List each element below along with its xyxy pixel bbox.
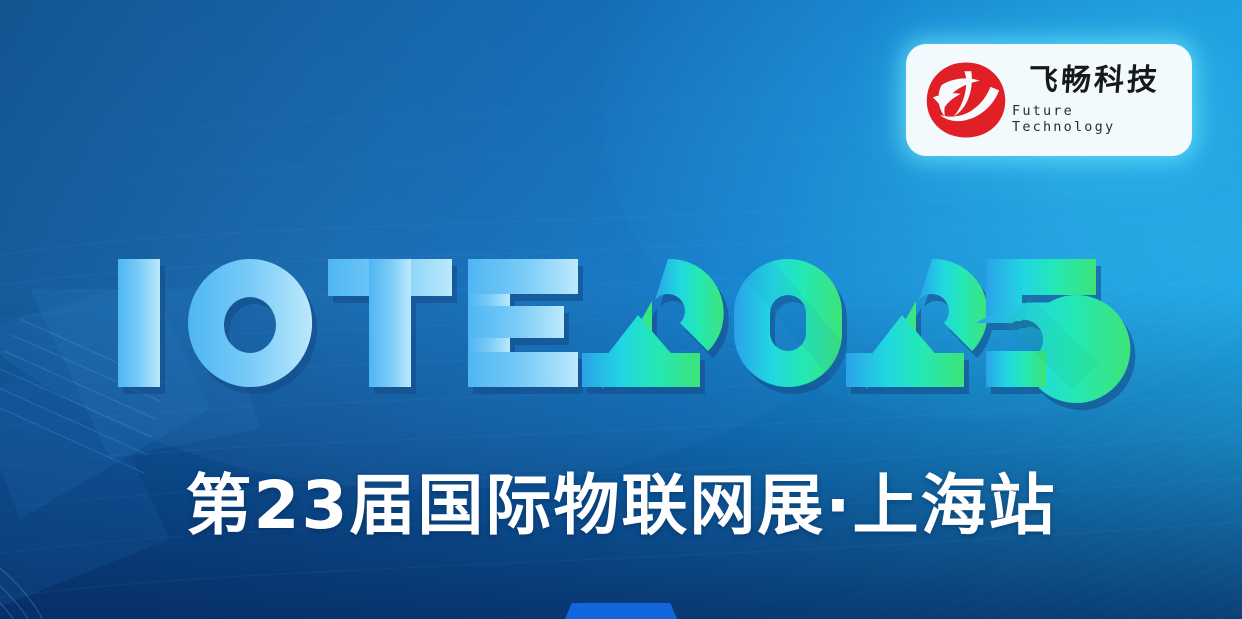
company-name-cn: 飞畅科技: [1027, 65, 1161, 97]
iote-2025-banner: 第23届国际物联网展·上海站 飞畅科技 Future Technology: [0, 0, 1242, 619]
banner-subtitle: 第23届国际物联网展·上海站: [0, 452, 1242, 548]
sponsor-logo-badge[interactable]: 飞畅科技 Future Technology: [906, 44, 1192, 156]
bottom-indicator-tab[interactable]: [565, 603, 677, 619]
page-title: [112, 243, 1102, 403]
logo-text-block: 飞畅科技 Future Technology: [1012, 65, 1176, 134]
company-name-en: Future Technology: [1012, 103, 1176, 135]
iote-letters: [118, 259, 578, 387]
year-2025-numerals: [582, 253, 1130, 403]
iote-2025-logotype: [112, 243, 1102, 403]
feichang-circle-mark-icon: [922, 59, 1010, 141]
